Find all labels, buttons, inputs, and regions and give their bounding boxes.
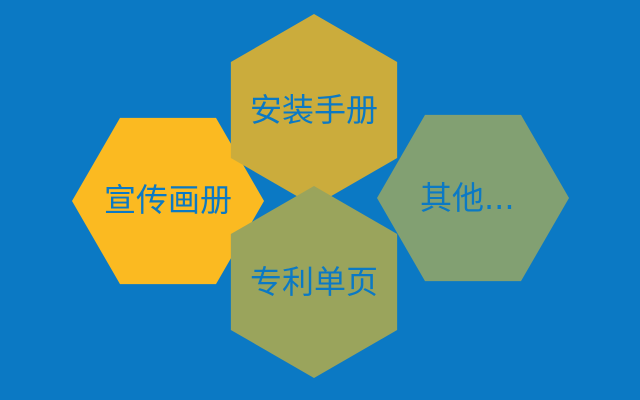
hexagon-diagram-canvas: 宣传画册 安装手册 专利单页 其他... bbox=[0, 0, 640, 400]
hexagon-label-patent-sheet: 专利单页 bbox=[250, 266, 378, 298]
hexagon-label-brochure: 宣传画册 bbox=[104, 184, 232, 216]
hexagon-shapes-layer bbox=[0, 0, 640, 400]
hexagon-label-installation-manual: 安装手册 bbox=[250, 94, 378, 126]
hexagon-label-others: 其他... bbox=[420, 182, 515, 214]
